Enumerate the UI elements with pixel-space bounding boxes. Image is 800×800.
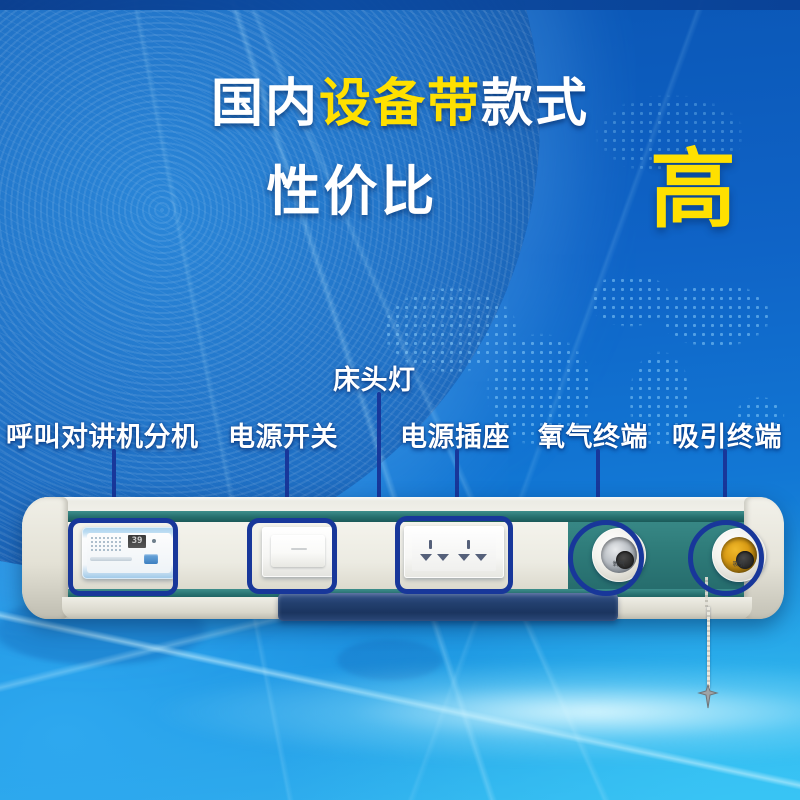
highlight-power-switch [247,518,337,594]
bed-lamp-diffuser[interactable] [278,593,618,621]
callout-label-power-socket: 电源插座 [400,415,510,454]
banner-canvas: 国内设备带款式 性价比 高 呼叫对讲机分机 电源开关 床头灯 电源插座 氧气终端… [0,0,800,800]
callout-label-bed-lamp: 床头灯 [333,358,416,397]
headline-text-domestic: 国内 [211,75,319,133]
headline-text-style: 款式 [481,75,589,133]
headline-line-2: 性价比 [92,165,612,219]
headline-text-highlight: 设备带 [319,75,481,133]
callout-label-oxygen: 氧气终端 [538,415,648,454]
headline-big-char: 高 [650,147,736,233]
highlight-intercom [68,518,178,596]
callout-label-suction: 吸引终端 [672,415,782,454]
horizon-glow [0,640,800,760]
callout-label-power-switch: 电源开关 [228,415,338,454]
pull-cord[interactable] [707,607,710,689]
highlight-oxygen [568,520,644,596]
highlight-suction [688,520,764,596]
highlight-power-socket [395,516,513,594]
callout-label-intercom: 呼叫对讲机分机 [6,415,199,454]
top-edge-band [0,0,800,10]
pull-cord-hook-icon [695,684,721,710]
headline-line-1: 国内设备带款式 [0,78,800,130]
